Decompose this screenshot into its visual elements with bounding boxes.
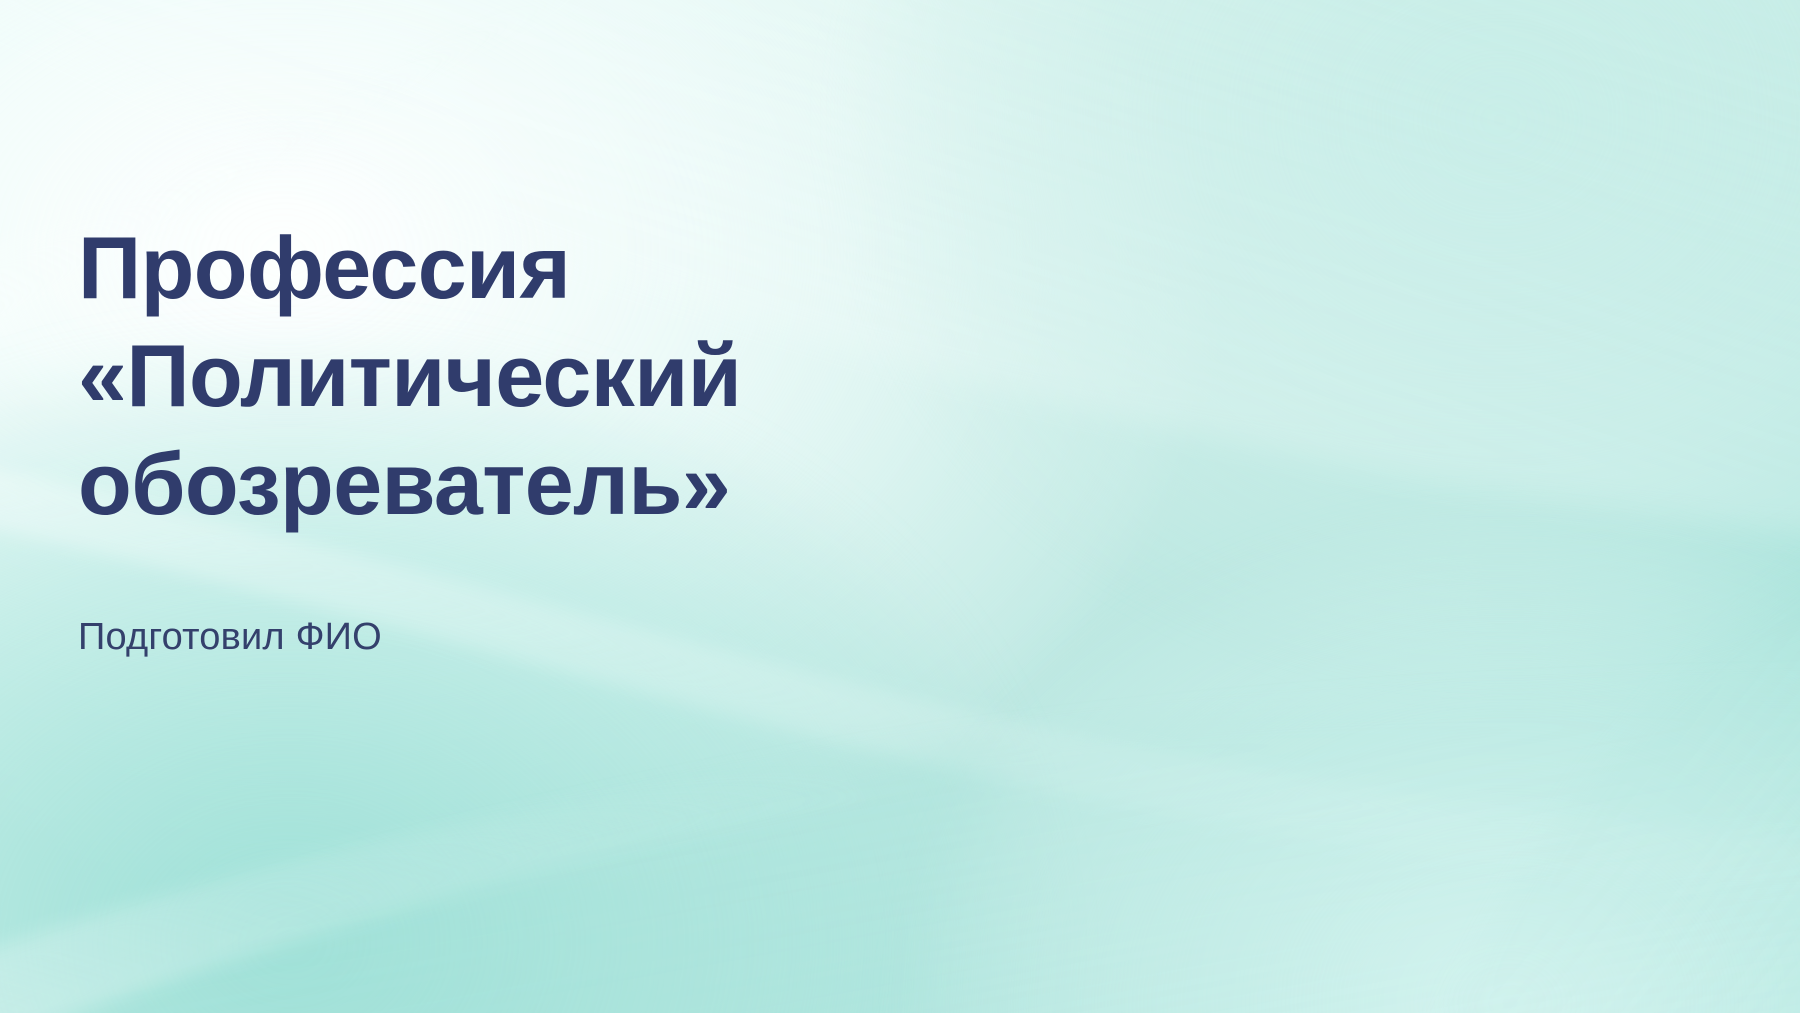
page-title: Профессия «Политический обозреватель»	[78, 214, 1258, 538]
title-block: Профессия «Политический обозреватель» По…	[78, 214, 1258, 662]
author-subtitle: Подготовил ФИО	[78, 538, 1258, 662]
title-slide: Профессия «Политический обозреватель» По…	[0, 0, 1800, 1013]
